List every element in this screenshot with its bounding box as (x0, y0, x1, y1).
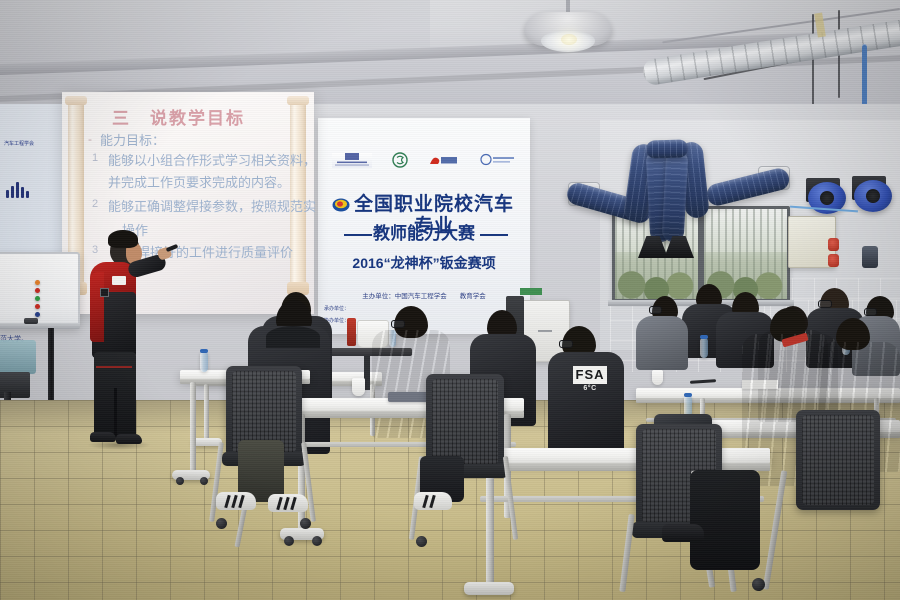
presenter-shoe (90, 432, 116, 442)
slide-item-line: 能够正确调整焊接参数，按照规范实 (108, 196, 316, 215)
slide-item-line: 并完成工作页要求完成的内容。 (108, 172, 290, 191)
cabinet-handle (538, 330, 552, 332)
water-bottle[interactable] (700, 338, 708, 358)
chair-caster (300, 518, 311, 529)
cabinet-label (520, 288, 542, 295)
presenter-leg-split (114, 388, 117, 438)
paper-cup[interactable] (652, 370, 663, 385)
organizer-tail: 教育学会 (460, 293, 486, 300)
training-table-foreground-right (470, 448, 770, 464)
table-caster (176, 477, 184, 485)
presenter-hair (108, 230, 138, 248)
eyeglasses-icon (559, 340, 573, 348)
secondary-banner: 汽车工程学会 (0, 104, 62, 264)
paper-cup[interactable] (352, 378, 365, 396)
fsa-patch-subtext: 6°C (573, 385, 607, 392)
chair-caster (416, 536, 427, 547)
workshop-equipment (0, 340, 36, 374)
table-caster (284, 536, 294, 546)
bottle-cap (684, 393, 692, 397)
presenter-shoe (116, 434, 142, 444)
chair-mesh-panel (432, 379, 498, 465)
attendee-legs (690, 470, 760, 570)
sneaker (414, 492, 452, 510)
sneaker (268, 494, 308, 512)
chair-caster (216, 518, 227, 529)
banner-divider-left (344, 234, 372, 236)
power-outlet[interactable] (828, 254, 839, 267)
banner-logo-row (332, 150, 516, 170)
presenter-logo-patch (100, 288, 109, 297)
china-sae-logo-icon (332, 153, 372, 168)
eyeglasses-icon (818, 300, 832, 308)
table-caster (312, 536, 322, 546)
university-logo-icon (480, 153, 516, 167)
circle-logo-icon (392, 152, 408, 168)
organizer-name: 中国汽车工程学会 (395, 293, 447, 300)
leather-shoe (662, 524, 704, 542)
chair-caster (752, 578, 765, 591)
banner-year-line: 2016“龙神杯”钣金赛项 (328, 254, 520, 272)
classroom-photo-scene: 全国职业院校汽车专业 教师能力大赛 2016“龙神杯”钣金赛项 主办单位：中国汽… (0, 0, 900, 600)
whiteboard-magnet[interactable] (35, 288, 40, 293)
whiteboard-magnet[interactable] (35, 312, 40, 317)
table-caster (200, 477, 208, 485)
slide-item-number: 1 (92, 152, 98, 164)
lamp-bulb-icon (561, 34, 577, 45)
table-leg (204, 384, 209, 442)
mobile-whiteboard[interactable] (0, 252, 80, 328)
table-leg (486, 466, 494, 588)
banner-organizer-line: 主办单位：中国汽车工程学会 教育学会 (322, 292, 526, 301)
slide-item-number: 3 (92, 244, 98, 256)
bottle-cap (700, 335, 708, 339)
slide-title: 三 说教学目标 (112, 104, 245, 129)
slide-item-line: 能够以小组合作形式学习相关资料， (108, 150, 316, 169)
red-thermos[interactable] (347, 318, 356, 346)
table-leg (190, 382, 196, 474)
hoodie-hood (266, 326, 320, 348)
fume-arm-crossbar (646, 139, 689, 158)
hose-reel-hub (820, 191, 834, 205)
ceiling-cable (812, 14, 814, 110)
slide-bullet-header: 能力目标： (100, 130, 165, 149)
eyeglasses-icon (649, 306, 662, 314)
bottle-cap (200, 349, 208, 353)
whiteboard-magnet[interactable] (35, 296, 40, 301)
hose-reel-hub (866, 189, 880, 203)
fsa-patch: FSA (573, 366, 607, 384)
air-regulator (862, 246, 878, 268)
table-foot (464, 582, 514, 595)
attendee-body (636, 316, 688, 370)
banner-divider-right (480, 234, 508, 236)
slide-bullet-dash: - (88, 132, 92, 146)
mesh-chair-back[interactable] (796, 410, 880, 510)
event-banner: 全国职业院校汽车专业 教师能力大赛 2016“龙神杯”钣金赛项 主办单位：中国汽… (318, 118, 530, 334)
slide-item-number: 2 (92, 198, 98, 210)
longshen-logo-icon (428, 153, 460, 168)
sneaker (216, 492, 256, 510)
organizer-label: 主办单位： (362, 293, 395, 300)
presenter-jacket-side-panel (90, 272, 104, 342)
eyeglasses-icon (391, 320, 405, 328)
whiteboard-eraser[interactable] (24, 318, 38, 324)
whiteboard-magnet[interactable] (35, 280, 40, 285)
sponsor-label-1: 承办单位： (324, 306, 349, 312)
secondary-banner-text: 汽车工程学会 (4, 140, 60, 147)
whiteboard-magnet[interactable] (35, 304, 40, 309)
eyeglasses-icon (864, 308, 877, 316)
presenter-leg-stripe (96, 366, 132, 368)
whiteboard-marker-tray (0, 323, 80, 329)
water-bottle[interactable] (200, 352, 208, 372)
presenter-badge (112, 276, 126, 285)
power-outlet[interactable] (828, 238, 839, 251)
chair-mesh-panel (802, 415, 874, 505)
slide-column-capital (287, 96, 309, 105)
window-glass (704, 209, 787, 299)
slide-column-capital (65, 96, 87, 105)
bar-chart-logo-icon (6, 182, 32, 198)
